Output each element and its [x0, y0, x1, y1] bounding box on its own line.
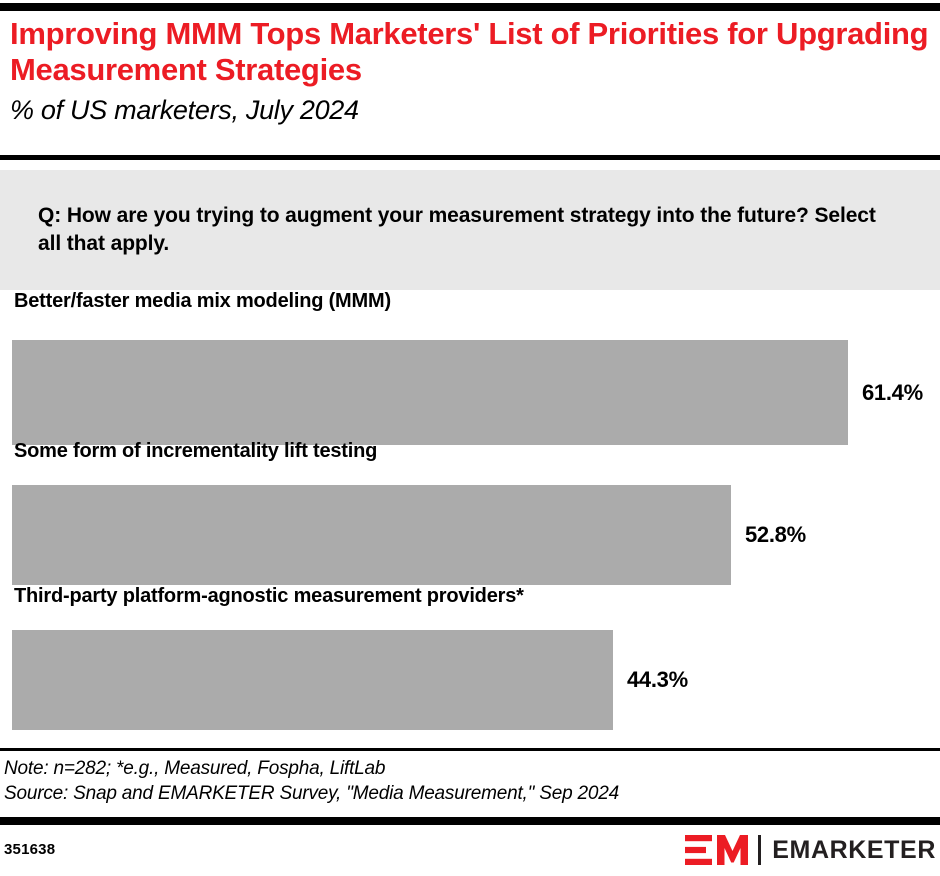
source-text: Source: Snap and EMARKETER Survey, "Medi… [4, 782, 936, 807]
bar-rect [12, 630, 613, 730]
bar-category-label: Third-party platform-agnostic measuremen… [14, 585, 524, 608]
footnote-block: Note: n=282; *e.g., Measured, Fospha, Li… [4, 757, 936, 806]
bar-category-label: Better/faster media mix modeling (MMM) [14, 290, 391, 313]
bar-group: Better/faster media mix modeling (MMM) 6… [0, 290, 940, 445]
question-panel: Q: How are you trying to augment your me… [0, 170, 940, 290]
chart-card: Improving MMM Tops Marketers' List of Pr… [0, 0, 940, 876]
bar-group: Third-party platform-agnostic measuremen… [0, 585, 940, 735]
bar-value-label: 44.3% [627, 667, 688, 693]
bar-row: 52.8% [0, 485, 806, 585]
em-monogram-icon [685, 835, 749, 865]
bar-category-label: Some form of incrementality lift testing [14, 440, 377, 463]
bar-group: Some form of incrementality lift testing… [0, 440, 940, 590]
bottom-divider [0, 817, 940, 825]
chart-subtitle: % of US marketers, July 2024 [10, 95, 930, 126]
question-text: Q: How are you trying to augment your me… [38, 202, 894, 258]
chart-title: Improving MMM Tops Marketers' List of Pr… [10, 16, 930, 89]
logo-divider [758, 835, 761, 865]
bar-rect [12, 485, 731, 585]
bar-value-label: 52.8% [745, 522, 806, 548]
logo-wordmark: EMARKETER [772, 838, 936, 863]
bar-row: 61.4% [0, 340, 923, 445]
note-text: Note: n=282; *e.g., Measured, Fospha, Li… [4, 757, 936, 782]
bar-value-label: 61.4% [862, 380, 923, 406]
emarketer-logo[interactable]: EMARKETER [685, 833, 936, 867]
bar-row: 44.3% [0, 630, 688, 730]
top-divider [0, 3, 940, 11]
bar-chart-plot: Better/faster media mix modeling (MMM) 6… [0, 290, 940, 745]
bar-rect [12, 340, 848, 445]
chart-header: Improving MMM Tops Marketers' List of Pr… [10, 16, 930, 126]
footnote-divider [0, 748, 940, 751]
chart-id-number: 351638 [4, 841, 55, 858]
header-divider [0, 155, 940, 160]
